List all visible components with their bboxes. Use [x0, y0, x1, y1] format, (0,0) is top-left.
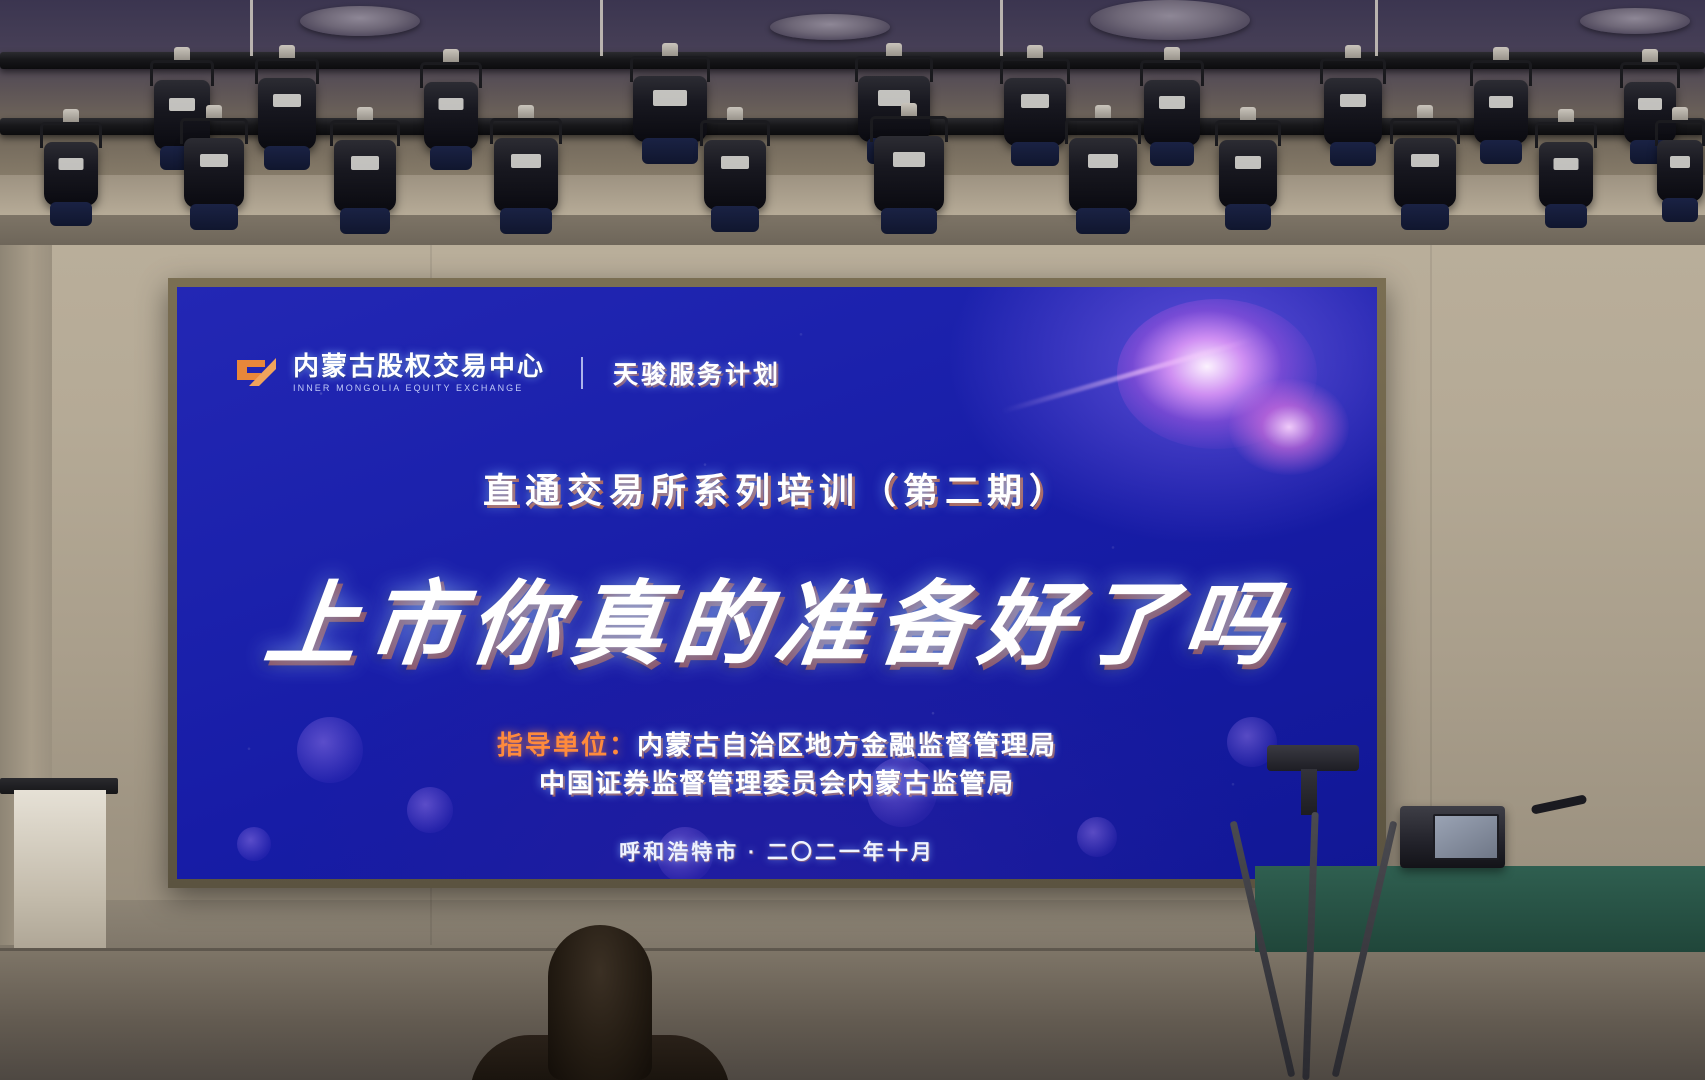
truss-hanger: [250, 0, 253, 56]
poster-center-block: 直通交易所系列培训（第二期） 上市你真的准备好了吗 指导单位：内蒙古自治区地方金…: [177, 463, 1377, 866]
led-screen: 内蒙古股权交易中心 INNER MONGOLIA EQUITY EXCHANGE…: [177, 287, 1377, 879]
stage-light: [1655, 120, 1705, 222]
guidance-unit-1: 内蒙古自治区地方金融监督管理局: [637, 730, 1057, 760]
ceiling-vent-icon: [1580, 8, 1690, 34]
floor: [0, 948, 1705, 1080]
place-and-date: 呼和浩特市 · 二〇二一年十月: [177, 836, 1377, 866]
camera-tripod: [1215, 745, 1445, 1080]
stage-light: [330, 120, 400, 234]
event-subtitle: 直通交易所系列培训（第二期）: [177, 463, 1377, 514]
audience-head: [548, 925, 652, 1080]
guidance-block: 指导单位：内蒙古自治区地方金融监督管理局 中国证券监督管理委员会内蒙古监管局: [177, 727, 1377, 802]
stage-light: [630, 56, 710, 168]
stage-light: [490, 118, 562, 234]
tripod-head: [1267, 745, 1359, 771]
stage-light: [420, 62, 482, 170]
led-screen-frame: 内蒙古股权交易中心 INNER MONGOLIA EQUITY EXCHANGE…: [168, 278, 1386, 888]
stage-light: [1140, 60, 1204, 168]
stage-light: [1320, 58, 1386, 168]
camera-monitor-screen: [1433, 814, 1499, 860]
stage-light: [180, 118, 248, 230]
tripod-column: [1301, 769, 1317, 815]
swoosh-logo-icon: [235, 356, 279, 390]
ceiling-vent-icon: [1090, 0, 1250, 40]
stage-light: [1470, 60, 1532, 166]
brand-lockup: 内蒙古股权交易中心 INNER MONGOLIA EQUITY EXCHANGE…: [235, 353, 781, 393]
truss-hanger: [1000, 0, 1003, 56]
conference-hall-scene: 内蒙古股权交易中心 INNER MONGOLIA EQUITY EXCHANGE…: [0, 0, 1705, 1080]
poster-content: 内蒙古股权交易中心 INNER MONGOLIA EQUITY EXCHANGE…: [177, 287, 1377, 879]
stage-light: [255, 58, 319, 170]
brand-divider: [581, 357, 583, 389]
tripod-leg: [1332, 821, 1398, 1078]
brand-name-block: 内蒙古股权交易中心 INNER MONGOLIA EQUITY EXCHANGE: [293, 353, 545, 393]
stage-light: [700, 120, 770, 232]
stage-light: [40, 122, 102, 226]
truss-hanger: [1375, 0, 1378, 56]
ceiling-vent-icon: [770, 14, 890, 40]
tripod-leg: [1302, 812, 1318, 1080]
stage-light: [1000, 58, 1070, 168]
stage-light: [870, 116, 948, 234]
brand-name-en: INNER MONGOLIA EQUITY EXCHANGE: [293, 384, 545, 393]
guidance-line-2: 中国证券监督管理委员会内蒙古监管局: [177, 765, 1377, 803]
brand-name-cn: 内蒙古股权交易中心: [293, 353, 545, 379]
tripod-leg: [1230, 821, 1296, 1078]
ceiling-vent-icon: [300, 6, 420, 36]
stage-light: [1390, 118, 1460, 230]
event-headline: 上市你真的准备好了吗: [177, 550, 1377, 683]
stage-light: [1215, 120, 1281, 230]
stage-light: [1065, 118, 1141, 234]
guidance-line-1: 指导单位：内蒙古自治区地方金融监督管理局: [177, 727, 1377, 765]
program-name: 天骏服务计划: [613, 355, 781, 391]
truss-hanger: [600, 0, 603, 56]
guidance-label: 指导单位：: [497, 730, 637, 760]
stage-light: [1535, 122, 1597, 228]
